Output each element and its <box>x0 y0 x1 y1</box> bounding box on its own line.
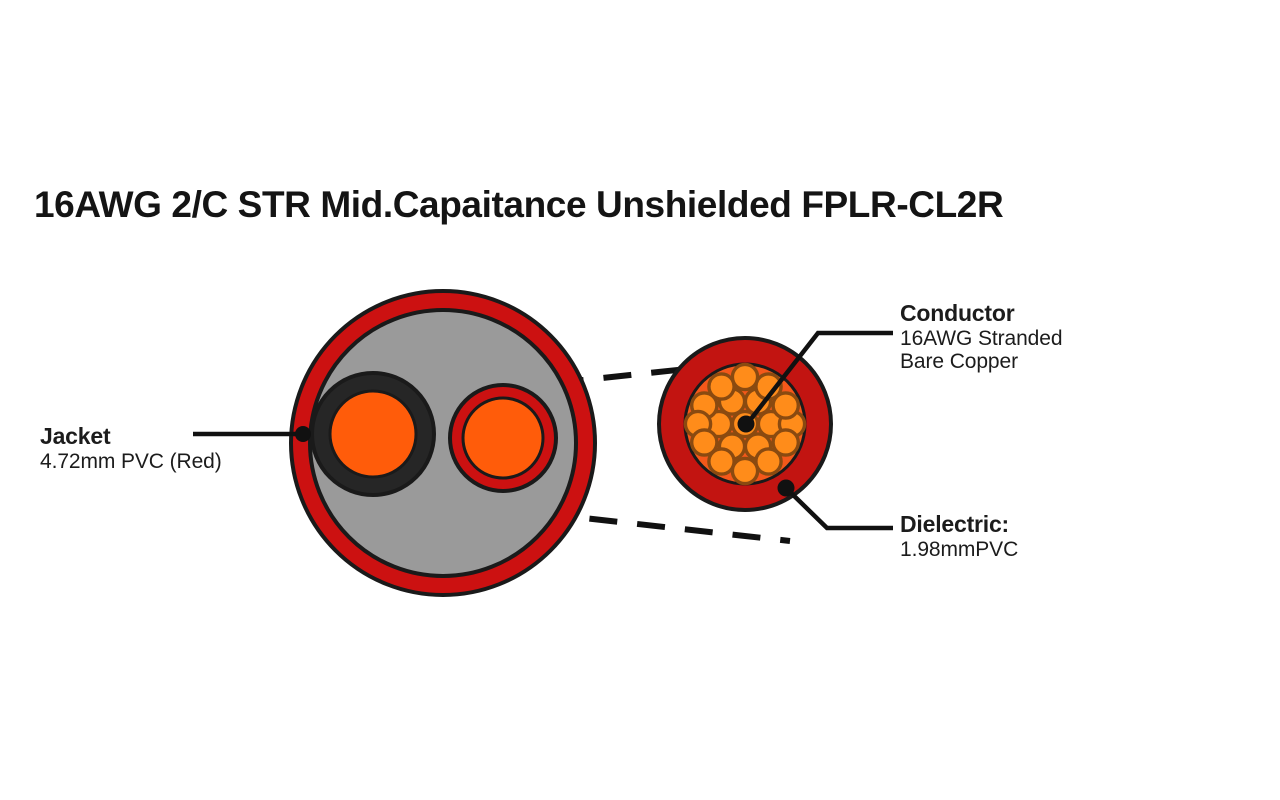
strand <box>732 458 757 483</box>
label-jacket: Jacket 4.72mm PVC (Red) <box>40 424 222 473</box>
leader-jacket-dot <box>295 426 311 442</box>
strand <box>773 430 798 455</box>
label-dielectric: Dielectric: 1.98mmPVC <box>900 512 1018 561</box>
label-dielectric-line1: 1.98mmPVC <box>900 538 1018 562</box>
label-conductor-line1: 16AWG Stranded <box>900 327 1062 351</box>
conductor-left-copper <box>330 391 416 477</box>
strand <box>709 449 734 474</box>
leader-dielectric-line <box>786 488 893 528</box>
diagram-canvas <box>0 0 1280 800</box>
label-jacket-head: Jacket <box>40 424 222 450</box>
label-conductor-head: Conductor <box>900 301 1062 327</box>
cable-diagram: 16AWG 2/C STR Mid.Capaitance Unshielded … <box>0 0 1280 800</box>
conductor-right <box>450 385 556 491</box>
label-dielectric-head: Dielectric: <box>900 512 1018 538</box>
label-conductor: Conductor 16AWG Stranded Bare Copper <box>900 301 1062 374</box>
leader-dielectric-dot <box>778 480 795 497</box>
leader-conductor-dot <box>738 416 755 433</box>
main-cable-cross-section <box>291 291 595 595</box>
label-jacket-line1: 4.72mm PVC (Red) <box>40 450 222 474</box>
conductor-right-copper <box>463 398 543 478</box>
conductor-left <box>312 373 434 495</box>
strand <box>732 364 757 389</box>
label-conductor-line2: Bare Copper <box>900 350 1062 374</box>
